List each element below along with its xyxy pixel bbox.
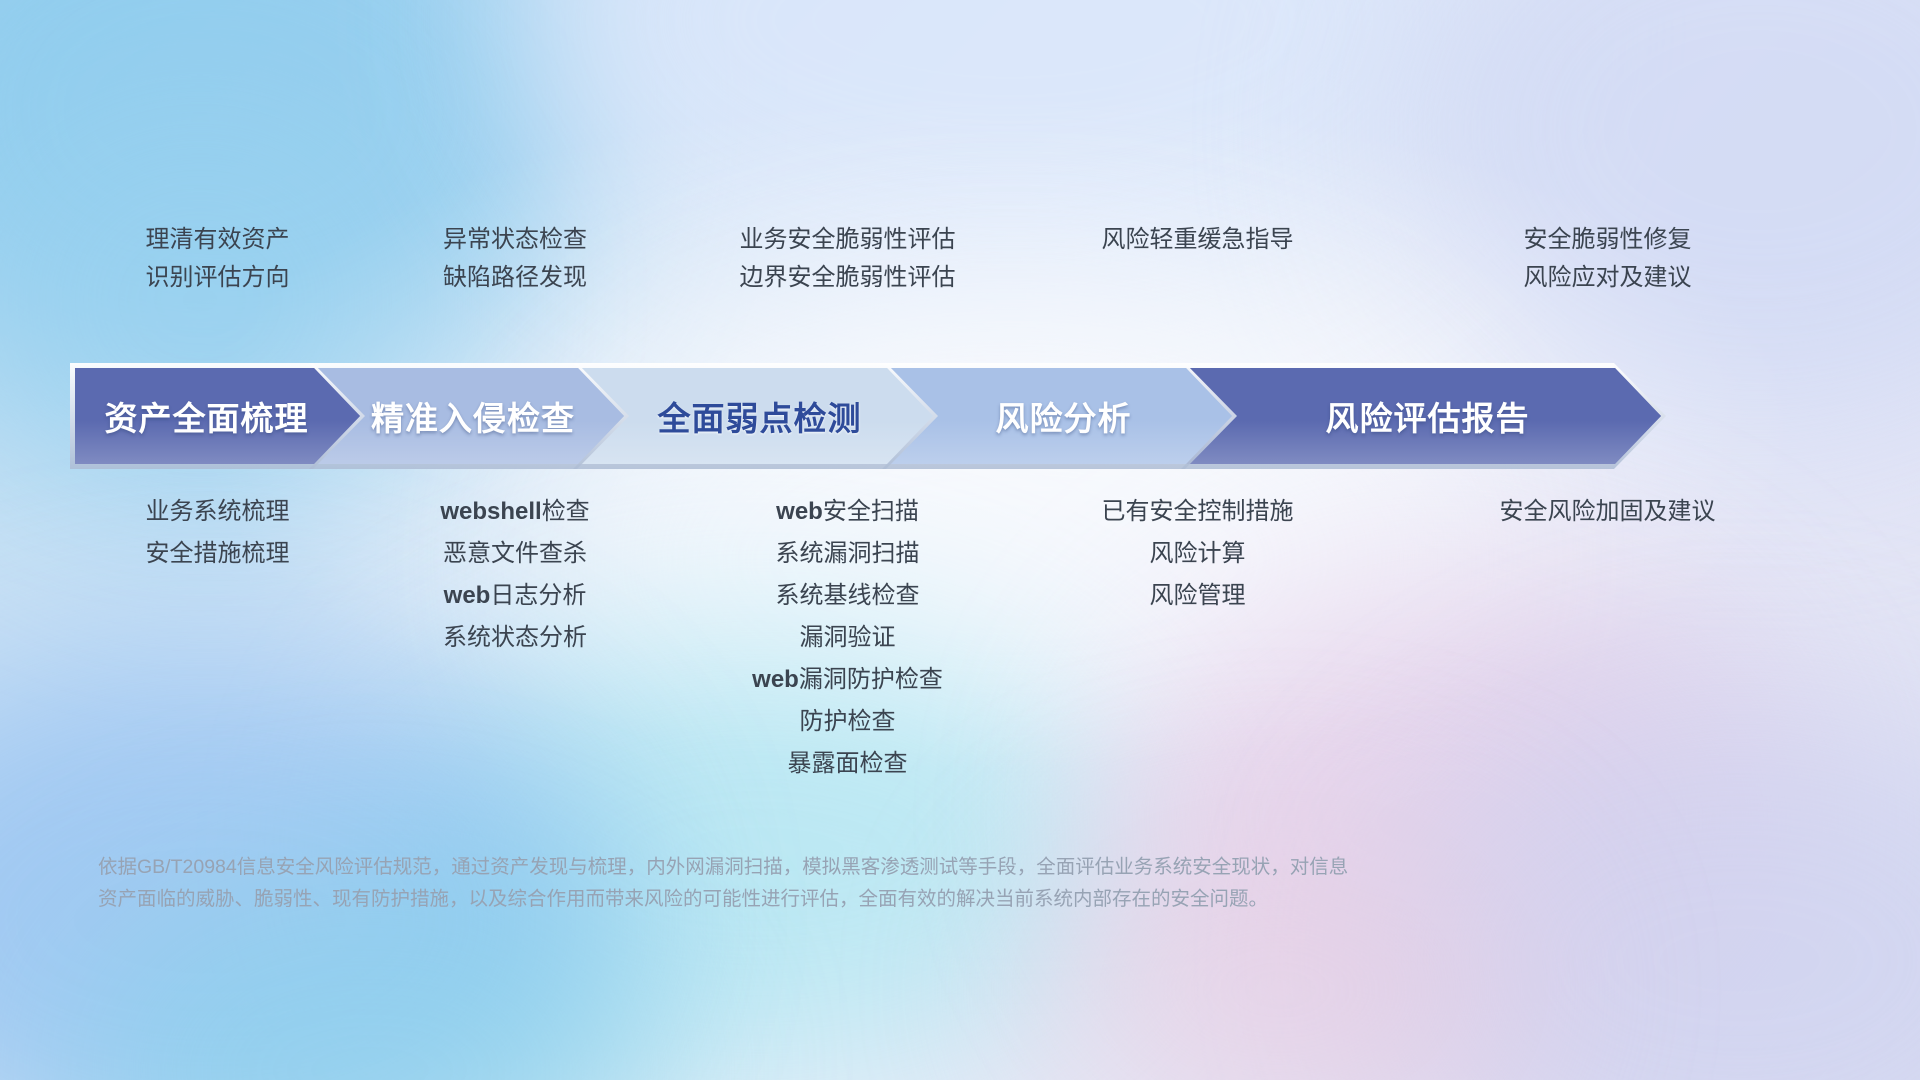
- stage-outputs-assessment-report: 安全风险加固及建议: [1370, 500, 1845, 776]
- stage-output-item: web漏洞防护检查: [752, 668, 943, 692]
- stage-output-item: 风险管理: [1150, 584, 1246, 608]
- stage-chevron-band: 资产全面梳理精准入侵检查全面弱点检测风险分析风险评估报告: [75, 368, 1845, 464]
- stage-chevron-weakness-detection[interactable]: 全面弱点检测: [578, 368, 933, 464]
- output-cjk-token: 系统状态分析: [443, 624, 587, 651]
- stage-output-item: 系统漏洞扫描: [776, 542, 920, 566]
- stage-chevron-risk-analysis[interactable]: 风险分析: [887, 368, 1232, 464]
- output-cjk-token: 检查: [542, 498, 590, 525]
- stage-inputs-row: 理清有效资产识别评估方向异常状态检查缺陷路径发现业务安全脆弱性评估边界安全脆弱性…: [75, 228, 1845, 348]
- stage-input-item: 理清有效资产: [146, 228, 290, 252]
- stage-outputs-weakness-detection: web安全扫描系统漏洞扫描系统基线检查漏洞验证web漏洞防护检查防护检查暴露面检…: [670, 500, 1025, 776]
- stage-outputs-risk-analysis: 已有安全控制措施风险计算风险管理: [1025, 500, 1370, 776]
- stage-inputs-risk-analysis: 风险轻重缓急指导: [1025, 228, 1370, 348]
- output-cjk-token: 系统基线检查: [776, 582, 920, 609]
- output-latin-token: web: [776, 498, 823, 525]
- stage-output-item: 业务系统梳理: [146, 500, 290, 524]
- stage-input-item: 边界安全脆弱性评估: [740, 266, 956, 290]
- stage-output-item: 风险计算: [1150, 542, 1246, 566]
- stage-title-asset-inventory: 资产全面梳理: [75, 392, 360, 440]
- stage-title-weakness-detection: 全面弱点检测: [578, 392, 933, 440]
- footer-description: 依据GB/T20984信息安全风险评估规范，通过资产发现与梳理，内外网漏洞扫描，…: [98, 852, 1738, 915]
- stage-inputs-assessment-report: 安全脆弱性修复风险应对及建议: [1370, 228, 1845, 348]
- footer-line: 资产面临的威胁、脆弱性、现有防护措施，以及综合作用而带来风险的可能性进行评估，全…: [98, 884, 1738, 916]
- output-cjk-token: 暴露面检查: [788, 750, 908, 777]
- stage-output-item: 防护检查: [800, 710, 896, 734]
- stage-output-item: web安全扫描: [776, 500, 919, 524]
- stage-inputs-weakness-detection: 业务安全脆弱性评估边界安全脆弱性评估: [670, 228, 1025, 348]
- output-cjk-token: 漏洞防护检查: [799, 666, 943, 693]
- output-cjk-token: 防护检查: [800, 708, 896, 735]
- stage-output-item: webshell检查: [440, 500, 589, 524]
- stage-output-item: web日志分析: [444, 584, 587, 608]
- stage-output-item: 已有安全控制措施: [1102, 500, 1294, 524]
- output-latin-token: web: [444, 582, 491, 609]
- stage-outputs-asset-inventory: 业务系统梳理安全措施梳理: [75, 500, 360, 776]
- stage-inputs-intrusion-check: 异常状态检查缺陷路径发现: [360, 228, 670, 348]
- output-cjk-token: 漏洞验证: [800, 624, 896, 651]
- output-latin-token: web: [752, 666, 799, 693]
- stage-output-item: 系统状态分析: [443, 626, 587, 650]
- stage-output-item: 恶意文件查杀: [443, 542, 587, 566]
- stage-chevron-assessment-report[interactable]: 风险评估报告: [1186, 368, 1661, 464]
- stage-outputs-row: 业务系统梳理安全措施梳理webshell检查恶意文件查杀web日志分析系统状态分…: [75, 500, 1845, 776]
- stage-input-item: 缺陷路径发现: [443, 266, 587, 290]
- footer-line: 依据GB/T20984信息安全风险评估规范，通过资产发现与梳理，内外网漏洞扫描，…: [98, 852, 1738, 884]
- output-latin-token: webshell: [440, 498, 541, 525]
- stage-input-item: 安全脆弱性修复: [1524, 228, 1692, 252]
- stage-input-item: 风险轻重缓急指导: [1102, 228, 1294, 252]
- stage-outputs-intrusion-check: webshell检查恶意文件查杀web日志分析系统状态分析: [360, 500, 670, 776]
- output-cjk-token: 恶意文件查杀: [443, 540, 587, 567]
- stage-chevron-asset-inventory[interactable]: 资产全面梳理: [75, 368, 360, 464]
- stage-input-item: 业务安全脆弱性评估: [740, 228, 956, 252]
- stage-inputs-asset-inventory: 理清有效资产识别评估方向: [75, 228, 360, 348]
- stage-title-risk-analysis: 风险分析: [887, 392, 1232, 440]
- stage-output-item: 漏洞验证: [800, 626, 896, 650]
- output-cjk-token: 系统漏洞扫描: [776, 540, 920, 567]
- stage-output-item: 暴露面检查: [788, 752, 908, 776]
- stage-output-item: 安全风险加固及建议: [1500, 500, 1716, 524]
- stage-input-item: 风险应对及建议: [1524, 266, 1692, 290]
- stage-output-item: 系统基线检查: [776, 584, 920, 608]
- output-cjk-token: 安全扫描: [823, 498, 919, 525]
- stage-output-item: 安全措施梳理: [146, 542, 290, 566]
- stage-input-item: 异常状态检查: [443, 228, 587, 252]
- stage-title-assessment-report: 风险评估报告: [1186, 392, 1661, 440]
- process-flow-diagram: 理清有效资产识别评估方向异常状态检查缺陷路径发现业务安全脆弱性评估边界安全脆弱性…: [0, 0, 1920, 1080]
- stage-input-item: 识别评估方向: [146, 266, 290, 290]
- output-cjk-token: 日志分析: [490, 582, 586, 609]
